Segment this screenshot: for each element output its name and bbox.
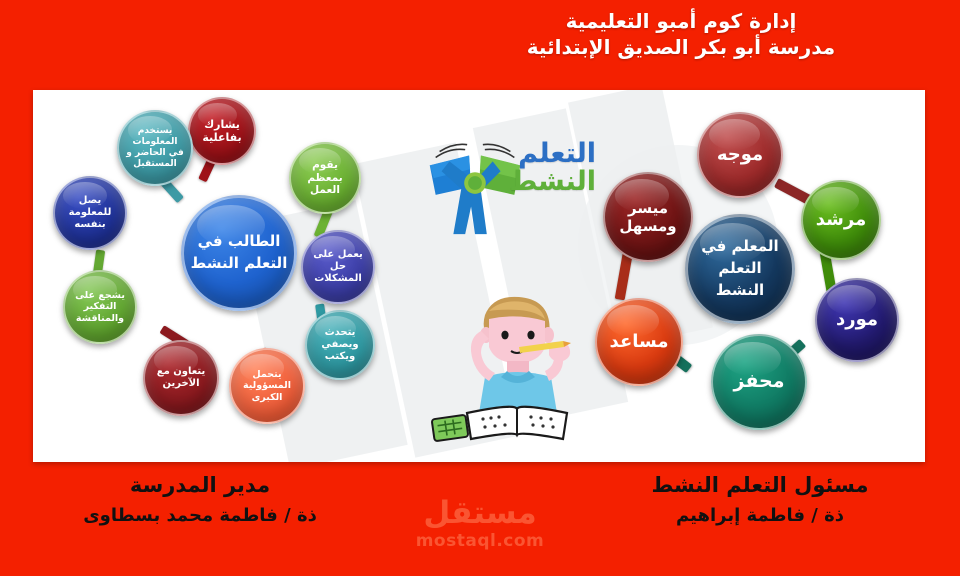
footer-coordinator: مسئول التعلم النشط ذة / فاطمة إبراهيم (570, 470, 950, 530)
footer-coordinator-title: مسئول التعلم النشط (570, 470, 950, 502)
student-node-label: يتحدث ويصفي ويكتب (307, 327, 373, 364)
header-line-school: مدرسة أبو بكر الصديق الإبتدائية (420, 34, 942, 60)
teacher-node-motivator[interactable]: محفز (711, 334, 807, 430)
teacher-node-facilitator[interactable]: ميسر ومسهل (603, 172, 693, 262)
active-learning-logo: التعلم النشط (416, 128, 596, 248)
student-node-does-most-work[interactable]: يقوم بمعظم العمل (289, 142, 361, 214)
student-node-reaches-information[interactable]: يصل للمعلومة بنفسه (53, 176, 127, 250)
footer-coordinator-name: ذة / فاطمة إبراهيم (570, 502, 950, 531)
teacher-node-label: محفز (729, 370, 790, 393)
student-node-label: يشارك بفاعلية (190, 118, 254, 145)
student-node-label: يستخدم المعلومات في الحاضر و المستقبل (119, 126, 191, 170)
teacher-node-guide[interactable]: موجه (697, 112, 783, 198)
student-hub-bubble[interactable]: الطالب في التعلم النشط (181, 195, 297, 311)
footer-principal-title: مدير المدرسة (10, 470, 390, 502)
student-node-responsibility[interactable]: يتحمل المسؤولية الكبرى (229, 348, 305, 424)
header: إدارة كوم أمبو التعليمية مدرسة أبو بكر ا… (420, 8, 942, 61)
footer-principal-name: ذة / فاطمة محمد بسطاوى (10, 502, 390, 531)
logo-line-2: النشط (509, 167, 596, 197)
watermark-latin: mostaql.com (0, 529, 960, 555)
student-node-label: يشجع على التفكير والمناقشة (65, 290, 135, 325)
student-node-encourages-thinking[interactable]: يشجع على التفكير والمناقشة (63, 270, 137, 344)
student-hub-label: الطالب في التعلم النشط (184, 231, 294, 275)
header-line-administration: إدارة كوم أمبو التعليمية (420, 8, 942, 34)
student-node-uses-information[interactable]: يستخدم المعلومات في الحاضر و المستقبل (117, 110, 193, 186)
student-node-label: يصل للمعلومة بنفسه (55, 195, 125, 232)
teacher-node-label: ميسر ومسهل (605, 199, 691, 236)
teacher-node-label: مرشد (811, 209, 871, 231)
footer-principal: مدير المدرسة ذة / فاطمة محمد بسطاوى (10, 470, 390, 530)
student-node-solves-problems[interactable]: يعمل على حل المشكلات (301, 230, 375, 304)
teacher-node-label: مورد (831, 309, 883, 331)
teacher-hub-bubble[interactable]: المعلم في التعلم النشط (685, 214, 795, 324)
teacher-node-mentor[interactable]: مرشد (801, 180, 881, 260)
student-node-label: يعمل على حل المشكلات (303, 249, 373, 286)
student-node-label: يقوم بمعظم العمل (291, 159, 359, 197)
teacher-node-label: مساعد (605, 331, 674, 353)
student-node-cooperates[interactable]: يتعاون مع الآخرين (143, 340, 219, 416)
student-node-speaks-writes[interactable]: يتحدث ويصفي ويكتب (305, 310, 375, 380)
infographic-panel: الطالب في التعلم النشط يشارك بفاعلية يست… (33, 90, 925, 462)
teacher-hub-label: المعلم في التعلم النشط (688, 236, 792, 301)
student-node-participates[interactable]: يشارك بفاعلية (188, 97, 256, 165)
teacher-node-resource[interactable]: مورد (815, 278, 899, 362)
logo-text: التعلم النشط (509, 140, 596, 197)
logo-line-1: التعلم (509, 140, 596, 167)
teacher-node-label: موجه (712, 144, 768, 166)
student-node-label: يتحمل المسؤولية الكبرى (231, 369, 303, 404)
boy-reading-illustration (423, 285, 613, 445)
student-node-label: يتعاون مع الآخرين (145, 366, 217, 390)
